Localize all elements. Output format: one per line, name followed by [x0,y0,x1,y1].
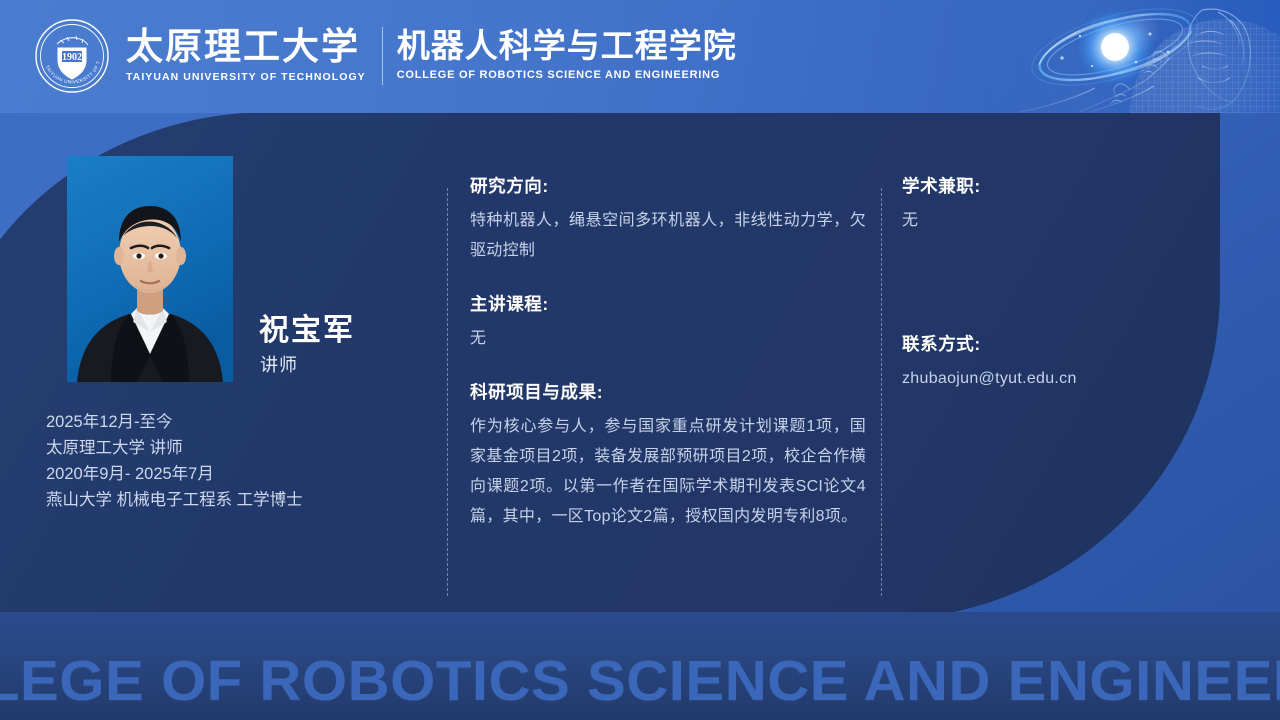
biography-list: 2025年12月-至今 太原理工大学 讲师 2020年9月- 2025年7月 燕… [46,409,446,513]
column-divider-left [447,188,448,596]
faculty-profile-slide: 1902 TAIYUAN UNIVERSITY OF TECHNOLOGY 太原… [0,0,1280,720]
avatar [67,156,233,382]
academic-appointments-value: 无 [902,206,1252,236]
middle-column: 研究方向: 特种机器人，绳悬空间多环机器人，非线性动力学，欠驱动控制 主讲课程:… [470,174,866,532]
contact-block: 联系方式: zhubaojun@tyut.edu.cn [902,332,1252,394]
research-directions-value: 特种机器人，绳悬空间多环机器人，非线性动力学，欠驱动控制 [470,206,866,266]
research-directions-block: 研究方向: 特种机器人，绳悬空间多环机器人，非线性动力学，欠驱动控制 [470,174,866,266]
research-directions-label: 研究方向: [470,174,866,198]
contact-email-value[interactable]: zhubaojun@tyut.edu.cn [902,364,1252,394]
bio-line: 太原理工大学 讲师 [46,435,446,461]
courses-label: 主讲课程: [470,292,866,316]
spacer [902,236,1252,332]
spacer [470,354,866,380]
right-column: 学术兼职: 无 联系方式: zhubaojun@tyut.edu.cn [902,174,1252,394]
person-name: 祝宝军 [259,305,355,349]
academic-appointments-block: 学术兼职: 无 [902,174,1252,236]
spacer [470,266,866,292]
courses-value: 无 [470,324,866,354]
academic-appointments-label: 学术兼职: [902,174,1252,198]
contact-label: 联系方式: [902,332,1252,356]
column-divider-right [881,188,882,596]
projects-label: 科研项目与成果: [470,380,866,404]
bio-line: 2025年12月-至今 [46,409,446,435]
person-title: 讲师 [260,351,298,377]
projects-block: 科研项目与成果: 作为核心参与人，参与国家重点研发计划课题1项，国家基金项目2项… [470,380,866,532]
bio-line: 2020年9月- 2025年7月 [46,461,446,487]
courses-block: 主讲课程: 无 [470,292,866,354]
projects-value: 作为核心参与人，参与国家重点研发计划课题1项，国家基金项目2项，装备发展部预研项… [470,412,866,532]
profile-content: 祝宝军 讲师 2025年12月-至今 太原理工大学 讲师 2020年9月- 20… [0,0,1280,720]
bio-line: 燕山大学 机械电子工程系 工学博士 [46,487,446,513]
